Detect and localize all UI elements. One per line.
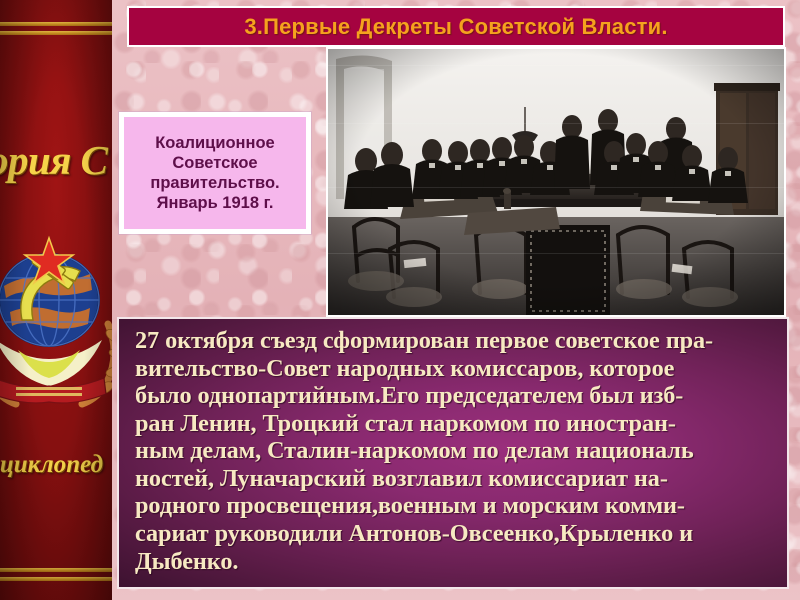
historical-photograph xyxy=(326,47,786,317)
gold-rule-top-1 xyxy=(0,22,112,26)
soviet-coat-of-arms-icon xyxy=(0,228,112,428)
gold-rule-top-2 xyxy=(0,31,112,35)
book-title-fragment: ория С xyxy=(0,140,112,181)
photo-scene xyxy=(328,49,784,315)
caption-text: Коалиционное Советское правительство. Ян… xyxy=(148,133,281,214)
caption-box: Коалиционное Советское правительство. Ян… xyxy=(119,112,311,234)
gold-rule-bottom-1 xyxy=(0,568,112,572)
slide-title: 3.Первые Декреты Советской Власти. xyxy=(244,14,667,40)
slide-title-bar: 3.Первые Декреты Советской Власти. xyxy=(127,6,785,47)
book-cover-image: ория С xyxy=(0,0,112,600)
body-text-panel: 27 октября съезд сформирован первое сове… xyxy=(117,317,789,589)
book-subtitle-fragment: нциклопед xyxy=(0,452,112,477)
gold-rule-bottom-2 xyxy=(0,577,112,581)
body-text: 27 октября съезд сформирован первое сове… xyxy=(135,327,773,575)
presentation-slide: ория С xyxy=(0,0,800,600)
